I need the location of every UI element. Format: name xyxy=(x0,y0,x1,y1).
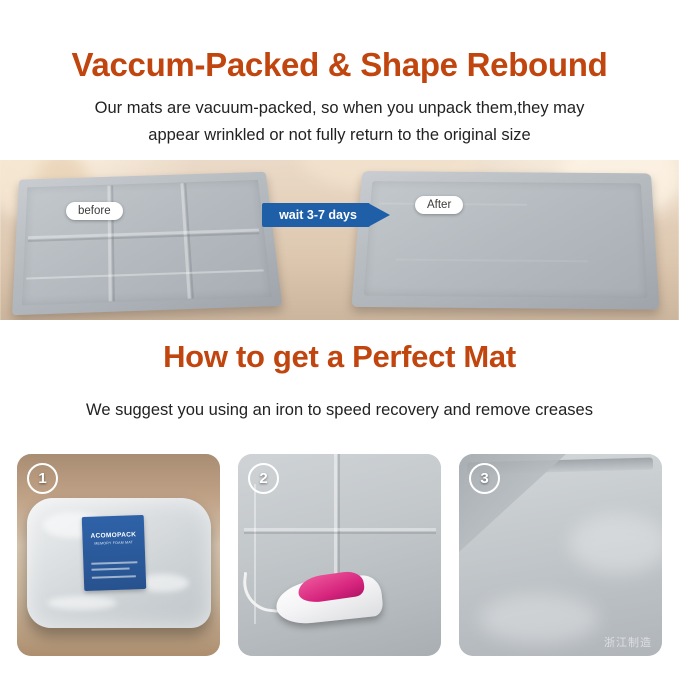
step-card-3: 3 浙江制造 xyxy=(459,454,662,656)
mat-crease-shadow xyxy=(244,532,436,534)
subtitle-top: Our mats are vacuum-packed, so when you … xyxy=(0,95,679,149)
after-mat-image xyxy=(351,171,659,310)
step-badge-2: 2 xyxy=(248,463,279,494)
step-cards: ACOMOPACK MEMORY FOAM MAT 1 2 xyxy=(17,454,662,656)
product-infographic: Vaccum-Packed & Shape Rebound Our mats a… xyxy=(0,0,679,679)
after-label-chip: After xyxy=(415,196,463,214)
after-mat-inner xyxy=(364,181,648,298)
page-title-bottom: How to get a Perfect Mat xyxy=(0,339,679,375)
watermark-text: 浙江制造 xyxy=(604,634,652,650)
mat-highlight xyxy=(479,594,599,644)
subtitle-bottom: We suggest you using an iron to speed re… xyxy=(0,397,679,424)
package-brand-text: ACOMOPACK xyxy=(82,531,144,540)
before-label-chip: before xyxy=(66,202,123,220)
step-card-2: 2 xyxy=(238,454,441,656)
page-title-top: Vaccum-Packed & Shape Rebound xyxy=(0,46,679,84)
package-sub-text: MEMORY FOAM MAT xyxy=(83,540,145,546)
before-mat-image xyxy=(12,172,282,315)
bag-highlight xyxy=(47,596,117,610)
wait-arrow: wait 3-7 days xyxy=(262,203,390,227)
mat-crease xyxy=(244,528,436,531)
subtitle-top-line-2: appear wrinkled or not fully return to t… xyxy=(0,122,679,149)
before-mat-inner xyxy=(22,180,272,305)
package-label-line xyxy=(91,561,137,565)
before-after-photo-band: before After xyxy=(0,160,679,320)
mat-highlight xyxy=(569,514,662,574)
package-label-line xyxy=(92,567,130,570)
step-badge-3: 3 xyxy=(469,463,500,494)
step-card-1: ACOMOPACK MEMORY FOAM MAT 1 xyxy=(17,454,220,656)
mat-crease-shadow xyxy=(338,454,340,574)
package-label-line xyxy=(92,575,136,579)
package-label: ACOMOPACK MEMORY FOAM MAT xyxy=(82,515,147,591)
arrow-label: wait 3-7 days xyxy=(262,203,374,227)
subtitle-top-line-1: Our mats are vacuum-packed, so when you … xyxy=(0,95,679,122)
mat-crease xyxy=(334,454,337,574)
step-badge-1: 1 xyxy=(27,463,58,494)
